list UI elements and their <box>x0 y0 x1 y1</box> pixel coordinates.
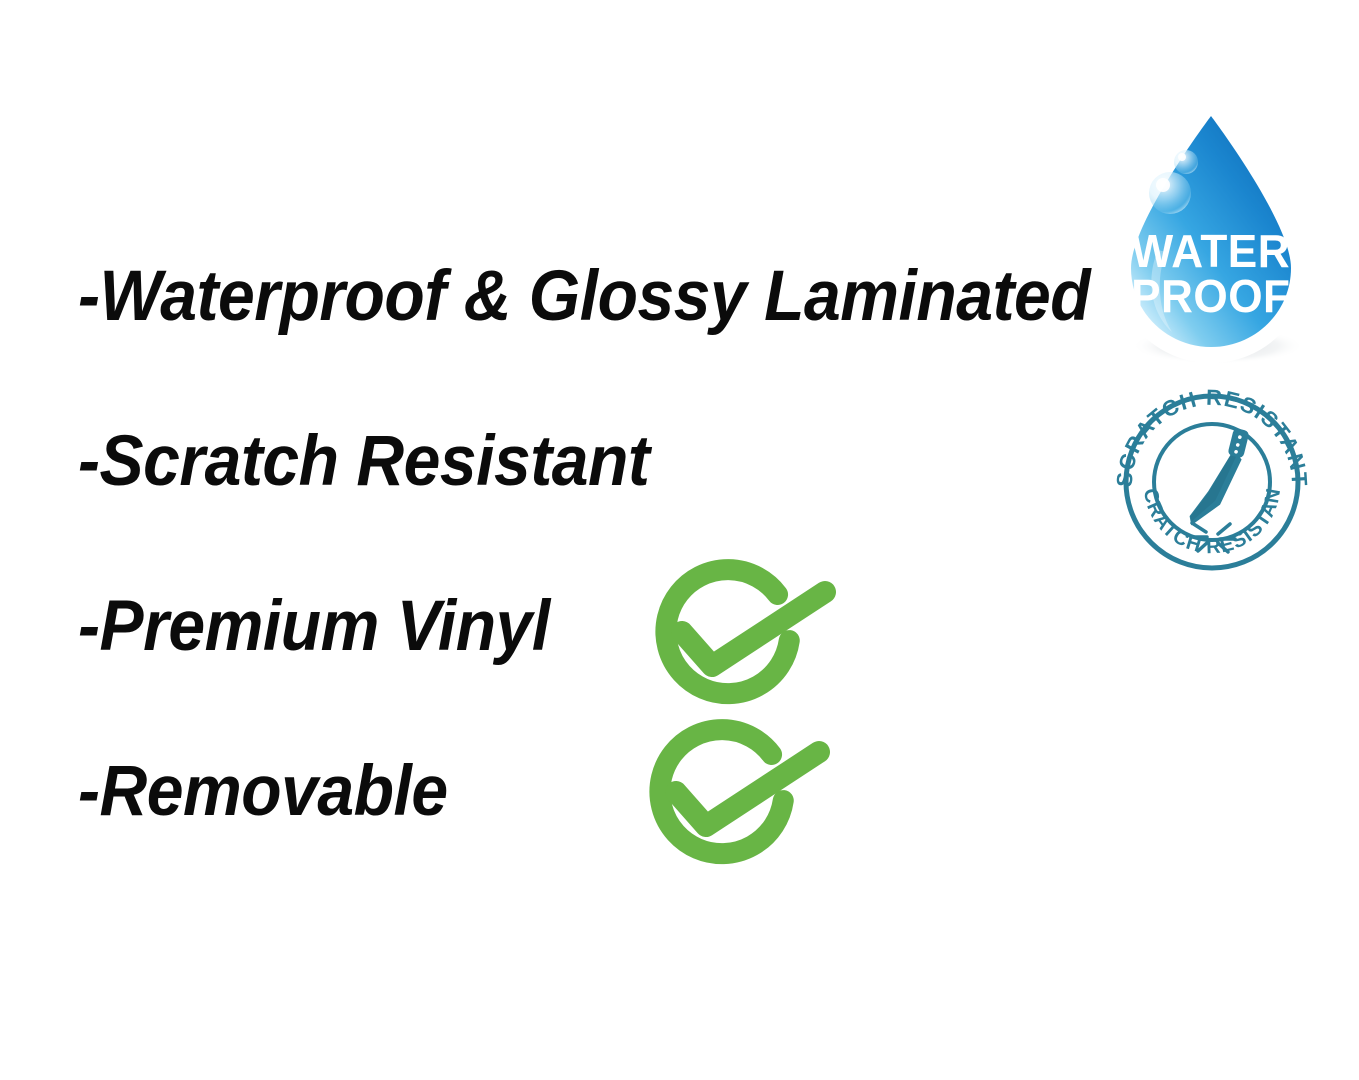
droplet-bubble-large <box>1149 172 1191 214</box>
knife-icon <box>1187 422 1254 533</box>
check-circle-icon-1 <box>640 556 840 716</box>
feature-label-removable: -Removable <box>78 753 448 831</box>
promo-feature-graphic: -Waterproof & Glossy Laminated -Scratch … <box>0 0 1359 1080</box>
waterproof-line2: PROOF <box>1131 270 1290 322</box>
feature-list: -Waterproof & Glossy Laminated -Scratch … <box>78 258 1098 918</box>
check-mark-stroke <box>676 752 819 826</box>
feature-label-scratch-resistant: -Scratch Resistant <box>78 423 649 501</box>
check-mark-stroke <box>682 592 825 666</box>
scratch-resistant-badge: SCRATCH RESISTANT SCRATCH RESISTANT <box>1108 382 1316 572</box>
feature-row: -Waterproof & Glossy Laminated <box>78 258 1098 423</box>
check-circle-icon-2 <box>634 716 834 876</box>
feature-row: -Removable <box>78 753 1098 918</box>
droplet-bubble-small <box>1174 150 1198 174</box>
scratch-text-top: SCRATCH RESISTANT <box>1112 385 1313 488</box>
feature-label-premium-vinyl: -Premium Vinyl <box>78 588 550 666</box>
feature-label-waterproof-glossy-laminated: -Waterproof & Glossy Laminated <box>78 258 1090 336</box>
feature-row: -Premium Vinyl <box>78 588 1098 753</box>
feature-row: -Scratch Resistant <box>78 423 1098 588</box>
waterproof-badge: WATER PROOF <box>1098 100 1330 372</box>
